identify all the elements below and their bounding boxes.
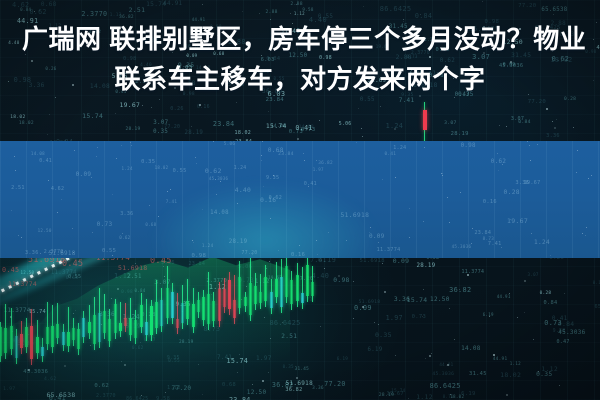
- ticker-value: 15.74: [266, 122, 287, 130]
- ticker-value: 51.6918: [360, 258, 385, 264]
- band-ticker-value: 0.09: [369, 233, 385, 240]
- candlestick-body: [108, 319, 111, 341]
- ticker-value: 3.36: [394, 296, 410, 303]
- band-speckle: [91, 177, 92, 178]
- band-ticker-value: 23.84: [474, 230, 491, 236]
- data-point-dot: [384, 291, 386, 293]
- data-point-dot: [429, 355, 431, 357]
- band-speckle: [40, 253, 41, 254]
- band-speckle: [167, 191, 168, 192]
- ticker-value: 0.28: [540, 291, 552, 296]
- band-speckle: [316, 240, 317, 241]
- candlestick-body: [103, 311, 106, 333]
- band-ticker-value: 11.3774: [377, 247, 401, 253]
- band-speckle: [11, 210, 12, 211]
- band-ticker-value: 0.98: [461, 143, 476, 149]
- band-speckle: [537, 144, 538, 145]
- ticker-value: 45.3036: [432, 372, 454, 377]
- candlestick-body: [98, 313, 101, 342]
- band-speckle: [121, 145, 122, 146]
- ticker-value: 6.19: [337, 356, 348, 361]
- ticker-value: 6.19: [461, 391, 475, 397]
- band-ticker-value: 14.08: [31, 151, 45, 156]
- ticker-value: 6.19: [368, 347, 383, 353]
- data-point-dot: [509, 293, 510, 294]
- band-ticker-value: 0.09: [76, 171, 92, 178]
- candlestick-body: [114, 304, 117, 333]
- band-speckle: [409, 208, 410, 209]
- band-ticker-value: 14.08: [210, 210, 229, 216]
- ticker-value: 3.07: [153, 120, 168, 126]
- data-point-dot: [524, 312, 525, 313]
- candlestick-body: [25, 327, 28, 347]
- band-speckle: [112, 194, 113, 195]
- data-point-dot: [425, 358, 426, 359]
- ticker-value: 1.12: [510, 361, 521, 366]
- band-speckle: [112, 255, 113, 256]
- headline-line-1: 广瑞网 联排别墅区，房车停三个多月没动？物业: [0, 19, 600, 59]
- ticker-value: 3.07: [527, 272, 538, 277]
- ticker-value: 4.62: [44, 377, 57, 382]
- band-ticker-value: 0.62: [205, 167, 222, 175]
- ticker-value: 0.09: [354, 304, 372, 312]
- band-speckle: [202, 209, 203, 210]
- ticker-value: 0.84: [544, 300, 558, 306]
- ticker-value: 9.58: [156, 396, 170, 400]
- band-ticker-value: 51.6918: [341, 212, 370, 219]
- band-speckle: [472, 228, 473, 229]
- ticker-value: 15.74: [407, 296, 428, 304]
- band-speckle: [576, 172, 577, 173]
- candlestick-body: [311, 282, 314, 296]
- ticker-value: 6.19: [483, 312, 494, 317]
- candlestick-body: [51, 326, 54, 347]
- band-speckle: [378, 242, 379, 243]
- band-speckle: [122, 233, 123, 234]
- band-ticker-value: 0.55: [102, 248, 116, 254]
- red-ticker-value: 0.45: [2, 266, 19, 274]
- ticker-value: 0.35: [536, 371, 552, 378]
- band-speckle: [72, 228, 73, 229]
- band-speckle: [262, 141, 263, 142]
- band-speckle: [97, 147, 98, 148]
- band-speckle: [424, 147, 425, 148]
- candlestick-body: [20, 334, 23, 348]
- band-speckle: [14, 156, 15, 157]
- band-ticker-value: 1.24: [121, 166, 132, 171]
- band-ticker-value: 3.36: [120, 211, 133, 217]
- band-speckle: [586, 227, 587, 228]
- ticker-value: 28.19: [451, 131, 469, 137]
- ticker-value: 65.6538: [46, 391, 75, 399]
- candlestick-body: [280, 277, 283, 307]
- band-ticker-value: 0.73: [97, 221, 113, 228]
- ticker-value: 0.68: [222, 382, 236, 388]
- candlestick-body: [192, 304, 195, 327]
- candlestick-body: [77, 329, 80, 348]
- data-point-dot: [489, 316, 490, 317]
- band-speckle: [18, 235, 19, 236]
- band-speckle: [423, 221, 424, 222]
- data-point-dot: [297, 138, 299, 140]
- ticker-value: 77.20: [172, 385, 192, 392]
- band-ticker-value: 0.62: [269, 195, 282, 201]
- band-ticker-value: 1.24: [234, 166, 247, 171]
- band-speckle: [442, 175, 443, 176]
- candlestick-body: [93, 315, 96, 344]
- ticker-value: 14.08: [271, 124, 287, 129]
- ticker-value: 36.82: [272, 381, 294, 389]
- background-red-price-ticks: 0.4551.69180.4511.377451.691811.37740.45: [0, 252, 220, 292]
- candlestick-body: [82, 318, 85, 337]
- band-speckle: [316, 160, 317, 161]
- candlestick-body: [176, 319, 179, 327]
- band-ticker-value: 0.55: [173, 168, 187, 174]
- band-speckle: [501, 247, 502, 248]
- ticker-value: 14.08: [461, 345, 481, 352]
- candlestick-body: [4, 328, 7, 353]
- ticker-value: 1.12: [167, 385, 181, 391]
- candlestick-body: [62, 332, 65, 344]
- data-point-dot: [362, 306, 364, 308]
- ticker-value: 36.82: [449, 286, 471, 294]
- ticker-value: 0.35: [153, 129, 168, 135]
- data-point-dot: [296, 377, 298, 379]
- band-ticker-value: 51.6918: [49, 251, 76, 257]
- band-speckle: [550, 255, 551, 256]
- candlestick-body: [254, 286, 257, 304]
- ticker-value: 28.19: [185, 130, 204, 136]
- candlestick-body: [72, 328, 75, 340]
- candlestick-body: [119, 323, 122, 331]
- band-speckle: [577, 150, 578, 151]
- ticker-value: 44.91: [497, 294, 511, 299]
- ticker-value: 77.20: [164, 125, 180, 130]
- ticker-value: 1.12: [541, 365, 558, 373]
- band-ticker-value: 1.24: [202, 244, 214, 249]
- band-speckle: [304, 160, 305, 161]
- data-point-dot: [517, 317, 518, 318]
- ticker-value: 5.06: [339, 122, 352, 127]
- band-speckle: [213, 141, 214, 142]
- candlestick-body: [134, 320, 137, 338]
- band-ticker-value: 0.68: [145, 222, 156, 227]
- band-speckle: [299, 245, 300, 246]
- data-point-dot: [552, 121, 553, 122]
- data-point-dot: [554, 127, 556, 129]
- data-point-dot: [493, 354, 495, 356]
- data-point-dot: [395, 355, 396, 356]
- band-ticker-value: 7.41: [166, 200, 178, 205]
- band-ticker-value: 4.62: [51, 186, 64, 192]
- data-point-dot: [564, 293, 565, 294]
- data-point-dot: [533, 339, 534, 340]
- data-point-dot: [524, 280, 526, 282]
- ticker-value: 36.82: [285, 387, 302, 393]
- red-ticker-value: 51.6918: [118, 264, 148, 272]
- band-speckle: [92, 232, 93, 233]
- candlestick-wick: [120, 302, 121, 337]
- ticker-value: 0.73: [301, 127, 316, 133]
- data-point-dot: [408, 398, 409, 399]
- ticker-value: 14.08: [299, 125, 314, 130]
- band-speckle: [74, 150, 75, 151]
- candlestick-body: [244, 297, 247, 307]
- band-speckle: [346, 240, 347, 241]
- band-ticker-value: 3.36: [25, 250, 39, 256]
- data-point-dot: [28, 369, 30, 371]
- data-point-dot: [431, 353, 432, 354]
- ticker-value: 0.62: [94, 383, 109, 389]
- band-speckle: [158, 216, 159, 217]
- band-speckle: [278, 250, 279, 251]
- ticker-value: 44.91: [439, 362, 453, 367]
- ticker-value: 0.84: [558, 320, 575, 328]
- band-speckle: [193, 242, 194, 243]
- band-speckle: [96, 156, 97, 157]
- ticker-value: 0.16: [593, 280, 600, 285]
- ticker-value: 23.84: [213, 120, 235, 128]
- ticker-value: 3.07: [444, 121, 457, 126]
- headline-text-block: 广瑞网 联排别墅区，房车停三个多月没动？物业 联系车主移车，对方发来两个字: [0, 0, 600, 117]
- candlestick-body: [259, 292, 262, 303]
- band-ticker-value: 3.36: [515, 180, 528, 186]
- candlestick-body: [30, 326, 33, 358]
- data-point-dot: [449, 308, 450, 309]
- band-ticker-value: 0.16: [483, 199, 497, 205]
- data-point-dot: [324, 268, 325, 269]
- band-speckle: [442, 173, 443, 174]
- band-speckle: [588, 178, 589, 179]
- band-speckle: [527, 141, 528, 142]
- band-speckle: [382, 179, 383, 180]
- ticker-value: 0.47: [556, 339, 569, 345]
- ticker-value: 3.36: [546, 133, 560, 139]
- candlestick-body: [223, 289, 226, 308]
- ticker-value: 18.02: [500, 371, 521, 379]
- band-speckle: [21, 237, 22, 238]
- candlestick-body: [160, 300, 163, 327]
- band-speckle: [303, 153, 304, 154]
- band-ticker-value: 0.28: [504, 189, 520, 196]
- data-point-dot: [447, 364, 449, 366]
- band-speckle: [582, 233, 583, 234]
- candlestick-body: [15, 336, 18, 358]
- ticker-value: 1.24: [386, 122, 404, 130]
- ticker-value: 12.50: [430, 296, 450, 303]
- ticker-value: 0.98: [333, 277, 349, 284]
- data-point-dot: [237, 372, 238, 373]
- candlestick-body: [275, 279, 278, 297]
- band-ticker-value: 0.68: [268, 147, 284, 154]
- candlestick-body: [88, 322, 91, 333]
- data-point-dot: [353, 318, 354, 319]
- candlestick-body: [124, 318, 127, 327]
- red-ticker-value: 0.45: [62, 258, 83, 268]
- candlestick-body: [41, 347, 44, 355]
- band-speckle: [328, 232, 329, 233]
- band-speckle: [192, 240, 193, 241]
- ticker-value: 15.74: [391, 388, 405, 393]
- data-point-dot: [362, 136, 363, 137]
- headline-line-2: 联系车主移车，对方发来两个字: [0, 59, 600, 99]
- ticker-value: 65.6538: [595, 304, 600, 310]
- band-speckle: [460, 192, 461, 193]
- candlestick-body: [290, 280, 293, 304]
- band-ticker-value: 1.24: [534, 239, 550, 246]
- band-ticker-value: 0.41: [304, 181, 317, 187]
- data-point-dot: [382, 263, 383, 264]
- candlestick-body: [140, 305, 143, 327]
- data-point-dot: [506, 126, 507, 127]
- band-speckle: [57, 212, 58, 213]
- ticker-value: 51.6918: [286, 380, 313, 387]
- data-point-dot: [353, 281, 354, 282]
- data-point-dot: [499, 125, 500, 126]
- candlestick-body: [264, 277, 267, 301]
- ticker-value: 0.35: [375, 331, 392, 339]
- band-speckle: [130, 142, 131, 143]
- data-point-dot: [319, 120, 320, 121]
- candlestick-body: [218, 289, 221, 322]
- band-speckle: [356, 142, 357, 143]
- band-ticker-value: 12.50: [38, 228, 52, 233]
- band-speckle: [149, 205, 150, 206]
- ticker-value: 23.84: [229, 396, 251, 400]
- candlestick-body: [212, 301, 215, 321]
- candlestick-body: [202, 297, 205, 320]
- band-ticker-value: 0.35: [141, 159, 155, 165]
- band-speckle: [530, 160, 531, 161]
- band-speckle: [15, 170, 16, 171]
- news-banner-image: 1.120.846.031.124.620.280.9828.195.066.0…: [0, 0, 600, 400]
- band-speckle: [395, 177, 396, 178]
- ticker-value: 86.6425: [430, 382, 461, 390]
- data-point-dot: [361, 128, 362, 129]
- band-speckle: [48, 180, 49, 181]
- data-point-dot: [338, 275, 340, 277]
- band-ticker-value: 4.40: [235, 187, 251, 194]
- band-ticker-value: 0.16: [291, 252, 305, 258]
- band-speckle: [196, 163, 197, 164]
- candlestick-body: [150, 306, 153, 335]
- candlestick-body: [56, 324, 59, 338]
- band-ticker-value: 2.51: [11, 185, 25, 191]
- band-speckle: [131, 145, 132, 146]
- band-speckle: [237, 203, 238, 204]
- band-speckle: [216, 194, 217, 195]
- band-speckle: [449, 222, 450, 223]
- ticker-value: 0.41: [49, 394, 66, 400]
- ticker-value: 31.45: [469, 371, 487, 377]
- data-point-dot: [454, 339, 455, 340]
- ticker-value: 0.73: [544, 319, 562, 327]
- data-point-dot: [262, 380, 264, 382]
- ticker-value: 18.02: [19, 121, 34, 126]
- band-speckle: [370, 227, 371, 228]
- candlestick-body: [285, 266, 288, 297]
- band-speckle: [263, 186, 264, 187]
- ticker-value: 18.02: [450, 394, 464, 399]
- ticker-value: 12.50: [247, 389, 267, 396]
- data-point-dot: [559, 385, 560, 386]
- ticker-value: 0.73: [412, 314, 426, 320]
- data-point-dot: [506, 394, 508, 396]
- ticker-value: 0.84: [518, 120, 531, 125]
- headline-banner-band: 1.240.980.1612.501.9719.670.413.367.4177…: [0, 141, 600, 258]
- candlestick-body: [238, 277, 241, 307]
- band-ticker-value: 0.62: [491, 159, 506, 165]
- band-speckle: [170, 189, 171, 190]
- candlestick-body: [129, 318, 132, 335]
- candlestick-body: [166, 288, 169, 318]
- ticker-value: 0.41: [552, 315, 568, 322]
- candlestick-body: [207, 294, 210, 324]
- band-speckle: [270, 218, 271, 219]
- data-point-dot: [191, 126, 192, 127]
- band-ticker-value: 0.41: [384, 152, 396, 157]
- band-ticker-value: 45.3036: [209, 176, 228, 181]
- band-speckle: [531, 233, 532, 234]
- band-speckle: [529, 145, 530, 146]
- band-speckle: [591, 175, 592, 176]
- red-ticker-value: 11.3774: [8, 280, 37, 288]
- band-ticker-value: 7.41: [488, 241, 502, 247]
- ticker-value: 0.41: [295, 124, 312, 132]
- ticker-value: 77.20: [324, 380, 345, 388]
- ticker-value: 1.12: [416, 393, 433, 400]
- band-speckle: [498, 170, 499, 171]
- candlestick-body: [233, 300, 236, 318]
- band-speckle: [409, 237, 410, 238]
- band-speckle-overlay: 1.240.980.1612.501.9719.670.413.367.4177…: [0, 141, 600, 258]
- data-point-dot: [374, 322, 375, 323]
- candlestick-body: [306, 265, 309, 295]
- band-speckle: [317, 254, 318, 255]
- data-point-dot: [252, 384, 253, 385]
- band-speckle: [447, 197, 448, 198]
- data-point-dot: [141, 395, 142, 396]
- data-point-dot: [573, 127, 574, 128]
- data-point-dot: [450, 394, 451, 395]
- candlestick-body: [228, 280, 231, 310]
- ticker-value: 0.73: [289, 129, 303, 135]
- candlestick-body: [67, 332, 70, 345]
- ticker-value: 19.67: [386, 391, 403, 397]
- band-speckle: [61, 199, 62, 200]
- data-point-dot: [47, 134, 48, 135]
- candlestick-body: [270, 292, 273, 308]
- ticker-value: 3.36: [312, 386, 324, 391]
- ticker-value: 1.97: [386, 314, 403, 322]
- data-point-dot: [268, 372, 269, 373]
- band-ticker-value: 1.97: [313, 167, 324, 172]
- candlestick-body: [181, 303, 184, 323]
- candlestick-body: [145, 322, 148, 335]
- candlestick-body: [186, 301, 189, 319]
- candlestick-body: [249, 283, 252, 315]
- ticker-value: 28.19: [379, 393, 395, 398]
- ticker-value: 1.97: [3, 387, 15, 392]
- candlestick-body: [0, 327, 2, 356]
- ticker-value: 28.19: [417, 263, 436, 269]
- data-point-dot: [556, 119, 557, 120]
- ticker-value: 18.02: [235, 130, 252, 136]
- candlestick-body: [171, 292, 174, 318]
- candlestick-body: [155, 302, 158, 328]
- ticker-value: 8.73: [443, 394, 454, 399]
- band-ticker-value: 1.24: [393, 145, 406, 151]
